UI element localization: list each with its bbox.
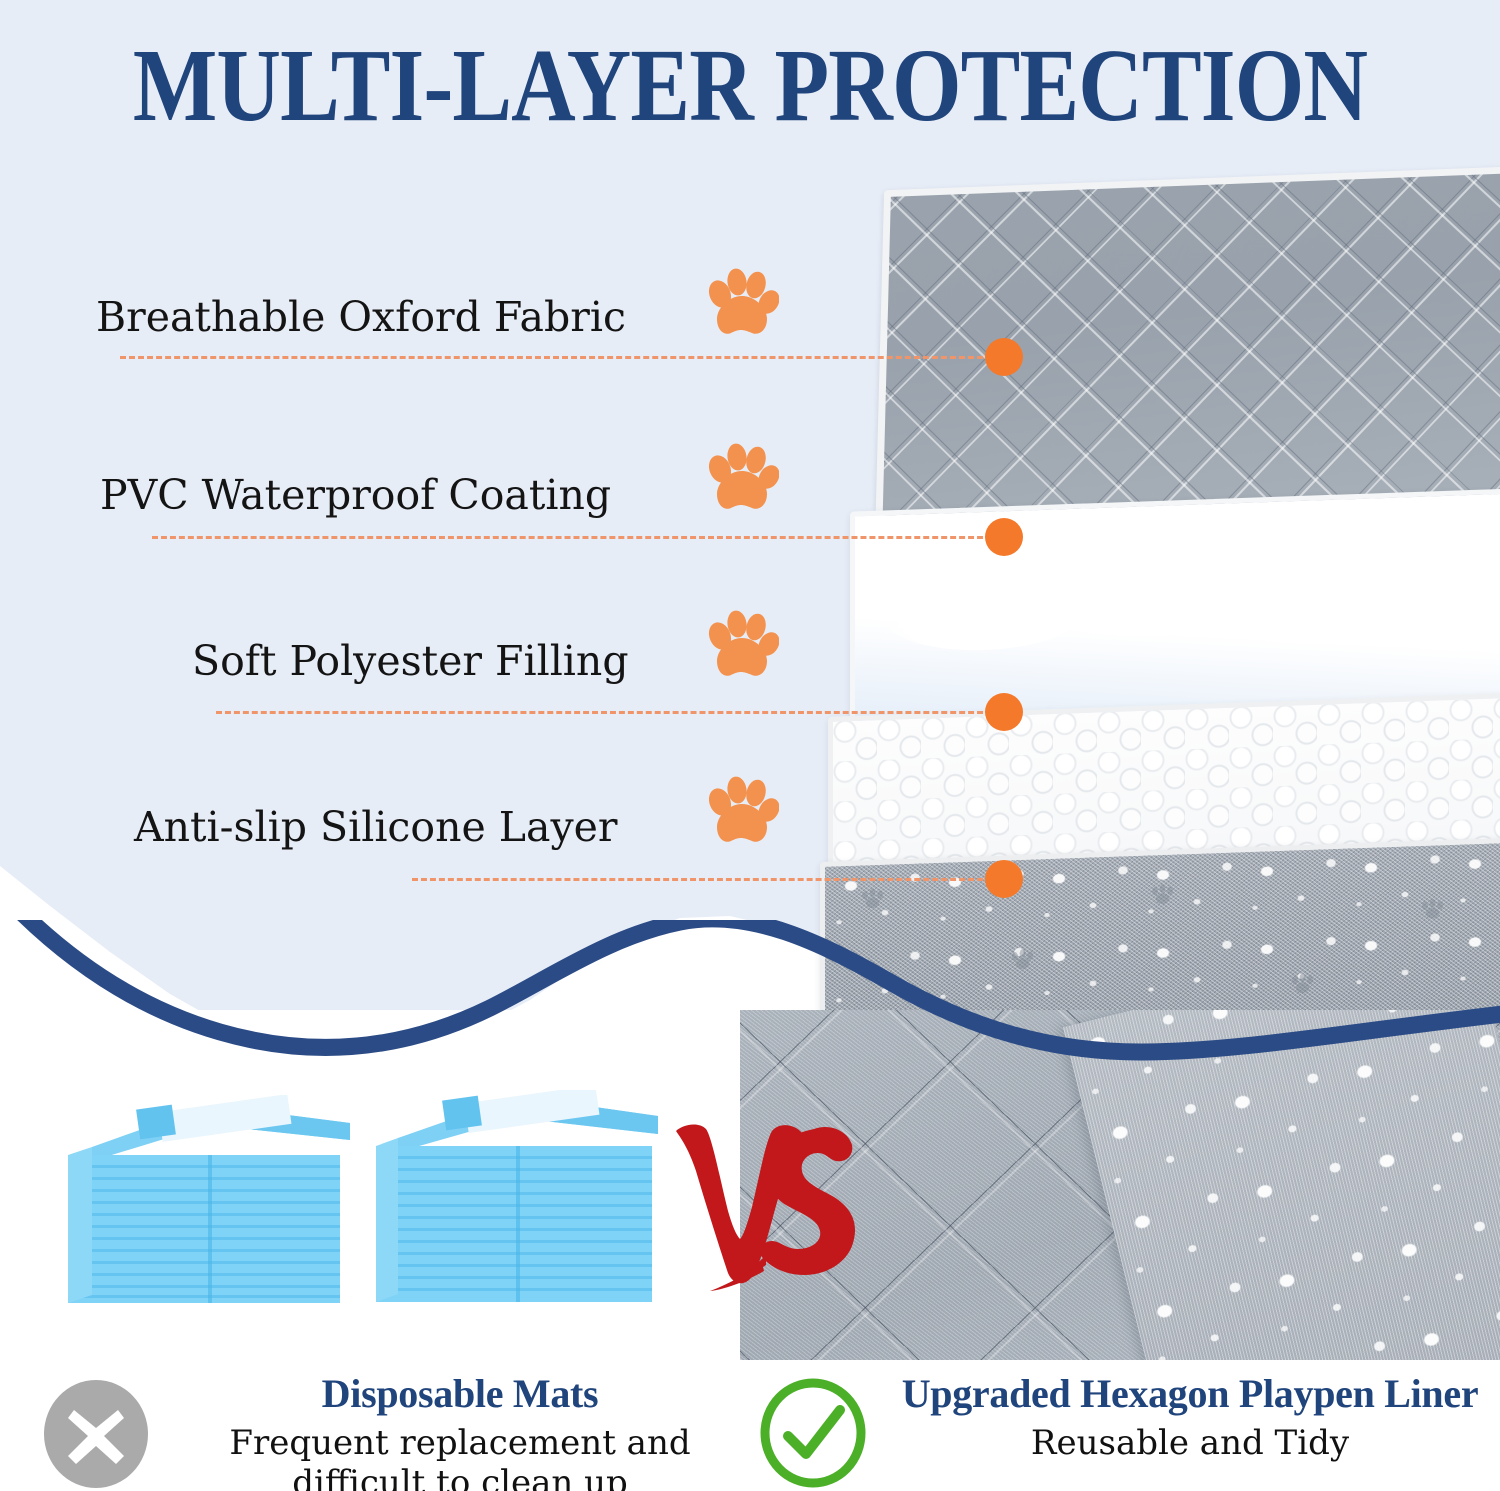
leader-line-1 — [120, 356, 992, 359]
infographic-canvas: Breathable Oxford Fabric PVC Waterproof … — [0, 0, 1500, 1491]
paw-icon — [705, 268, 779, 342]
layer-label-3: Soft Polyester Filling — [192, 637, 629, 685]
disposable-pad-stack-right — [370, 1090, 660, 1310]
paw-icon — [705, 776, 779, 850]
left-option-subtitle: Frequent replacement and difficult to cl… — [180, 1423, 740, 1491]
paw-icon — [705, 610, 779, 684]
right-option-subtitle: Reusable and Tidy — [880, 1423, 1500, 1463]
layer-marker-dot-2 — [985, 518, 1023, 556]
comparison-section: Disposable Mats Frequent replacement and… — [0, 1010, 1500, 1491]
page-title: MULTI-LAYER PROTECTION — [105, 34, 1395, 138]
layer-label-1: Breathable Oxford Fabric — [96, 293, 626, 341]
layer-label-2: PVC Waterproof Coating — [100, 471, 611, 519]
vs-icon — [662, 1115, 862, 1315]
leader-line-3 — [216, 711, 992, 714]
layer-label-4: Anti-slip Silicone Layer — [134, 803, 617, 851]
leader-line-2 — [152, 536, 992, 539]
right-option-title: Upgraded Hexagon Playpen Liner — [880, 1370, 1500, 1417]
left-option-title: Disposable Mats — [180, 1370, 740, 1417]
disposable-pad-stack-left — [60, 1095, 350, 1310]
layer-marker-dot-3 — [985, 693, 1023, 731]
layer-marker-dot-1 — [985, 338, 1023, 376]
x-mark-icon — [42, 1380, 150, 1488]
leader-line-4 — [412, 878, 992, 881]
versus-badge — [662, 1115, 862, 1315]
oxford-fabric-sheet — [875, 165, 1500, 534]
paw-icon — [705, 443, 779, 517]
check-mark-icon — [758, 1378, 868, 1488]
layer-marker-dot-4 — [985, 860, 1023, 898]
layered-fabric-illustration — [820, 150, 1500, 1030]
